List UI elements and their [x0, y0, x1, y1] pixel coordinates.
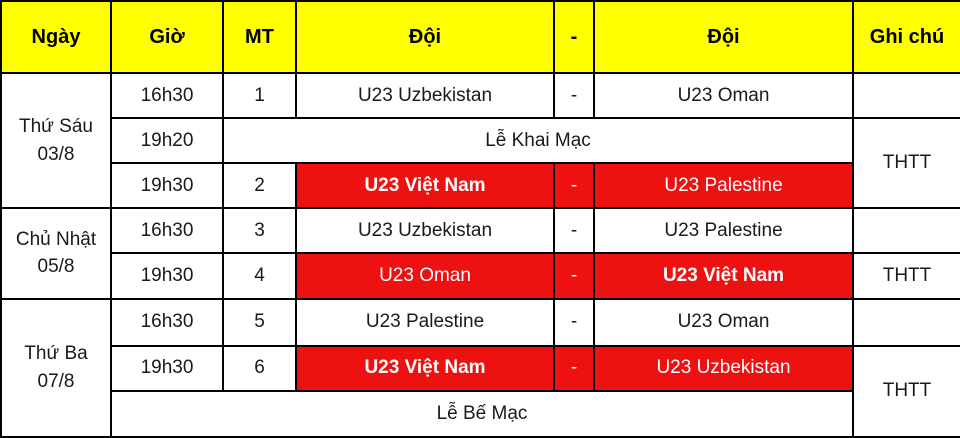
team-away-cell: U23 Palestine	[594, 208, 853, 253]
day-cell: Chủ Nhật 05/8	[1, 208, 111, 298]
time-cell: 19h30	[111, 346, 223, 391]
ceremony-cell: Lễ Khai Mạc	[223, 118, 853, 163]
header-team-home: Đội	[296, 1, 554, 73]
day-name: Thứ Ba	[24, 343, 87, 364]
header-separator: -	[554, 1, 594, 73]
table-row-highlight: 19h30 4 U23 Oman - U23 Việt Nam THTT	[1, 253, 960, 298]
ceremony-cell: Lễ Bế Mạc	[111, 391, 853, 437]
team-home-cell: U23 Việt Nam	[296, 163, 554, 208]
note-cell-empty	[853, 73, 960, 118]
separator-cell: -	[554, 163, 594, 208]
separator-cell: -	[554, 299, 594, 346]
match-no-cell: 6	[223, 346, 296, 391]
team-home-cell: U23 Palestine	[296, 299, 554, 346]
note-cell: THTT	[853, 118, 960, 208]
separator-cell: -	[554, 253, 594, 298]
table-row-highlight: 19h30 6 U23 Việt Nam - U23 Uzbekistan TH…	[1, 346, 960, 391]
separator-cell: -	[554, 346, 594, 391]
time-cell: 16h30	[111, 299, 223, 346]
time-cell: 19h20	[111, 118, 223, 163]
day-name: Chủ Nhật	[16, 229, 96, 250]
team-home-cell: U23 Việt Nam	[296, 346, 554, 391]
separator-cell: -	[554, 73, 594, 118]
header-match-no: MT	[223, 1, 296, 73]
day-name: Thứ Sáu	[19, 116, 93, 137]
day-cell: Thứ Sáu 03/8	[1, 73, 111, 208]
table-row: Thứ Ba 07/8 16h30 5 U23 Palestine - U23 …	[1, 299, 960, 346]
header-date: Ngày	[1, 1, 111, 73]
header-note: Ghi chú	[853, 1, 960, 73]
team-away-cell: U23 Palestine	[594, 163, 853, 208]
table-row-ceremony: 19h20 Lễ Khai Mạc THTT	[1, 118, 960, 163]
team-away-cell: U23 Oman	[594, 73, 853, 118]
team-home-cell: U23 Uzbekistan	[296, 73, 554, 118]
time-cell: 19h30	[111, 163, 223, 208]
time-cell: 16h30	[111, 208, 223, 253]
team-away-cell: U23 Oman	[594, 299, 853, 346]
separator-cell: -	[554, 208, 594, 253]
match-no-cell: 2	[223, 163, 296, 208]
match-no-cell: 1	[223, 73, 296, 118]
team-home-cell: U23 Uzbekistan	[296, 208, 554, 253]
note-cell: THTT	[853, 346, 960, 437]
table-row-ceremony: Lễ Bế Mạc	[1, 391, 960, 437]
day-cell: Thứ Ba 07/8	[1, 299, 111, 437]
day-date: 03/8	[38, 144, 75, 165]
table-row-highlight: 19h30 2 U23 Việt Nam - U23 Palestine	[1, 163, 960, 208]
day-date: 05/8	[38, 256, 75, 277]
match-no-cell: 4	[223, 253, 296, 298]
table-row: Chủ Nhật 05/8 16h30 3 U23 Uzbekistan - U…	[1, 208, 960, 253]
match-no-cell: 5	[223, 299, 296, 346]
note-cell-empty	[853, 208, 960, 253]
header-time: Giờ	[111, 1, 223, 73]
team-away-cell: U23 Việt Nam	[594, 253, 853, 298]
table-header-row: Ngày Giờ MT Đội - Đội Ghi chú	[1, 1, 960, 73]
note-cell: THTT	[853, 253, 960, 298]
time-cell: 19h30	[111, 253, 223, 298]
table-row: Thứ Sáu 03/8 16h30 1 U23 Uzbekistan - U2…	[1, 73, 960, 118]
time-cell: 16h30	[111, 73, 223, 118]
match-schedule-table: Ngày Giờ MT Đội - Đội Ghi chú Thứ Sáu 03…	[0, 0, 960, 438]
team-away-cell: U23 Uzbekistan	[594, 346, 853, 391]
match-no-cell: 3	[223, 208, 296, 253]
note-cell-empty	[853, 299, 960, 346]
day-date: 07/8	[38, 371, 75, 392]
team-home-cell: U23 Oman	[296, 253, 554, 298]
header-team-away: Đội	[594, 1, 853, 73]
